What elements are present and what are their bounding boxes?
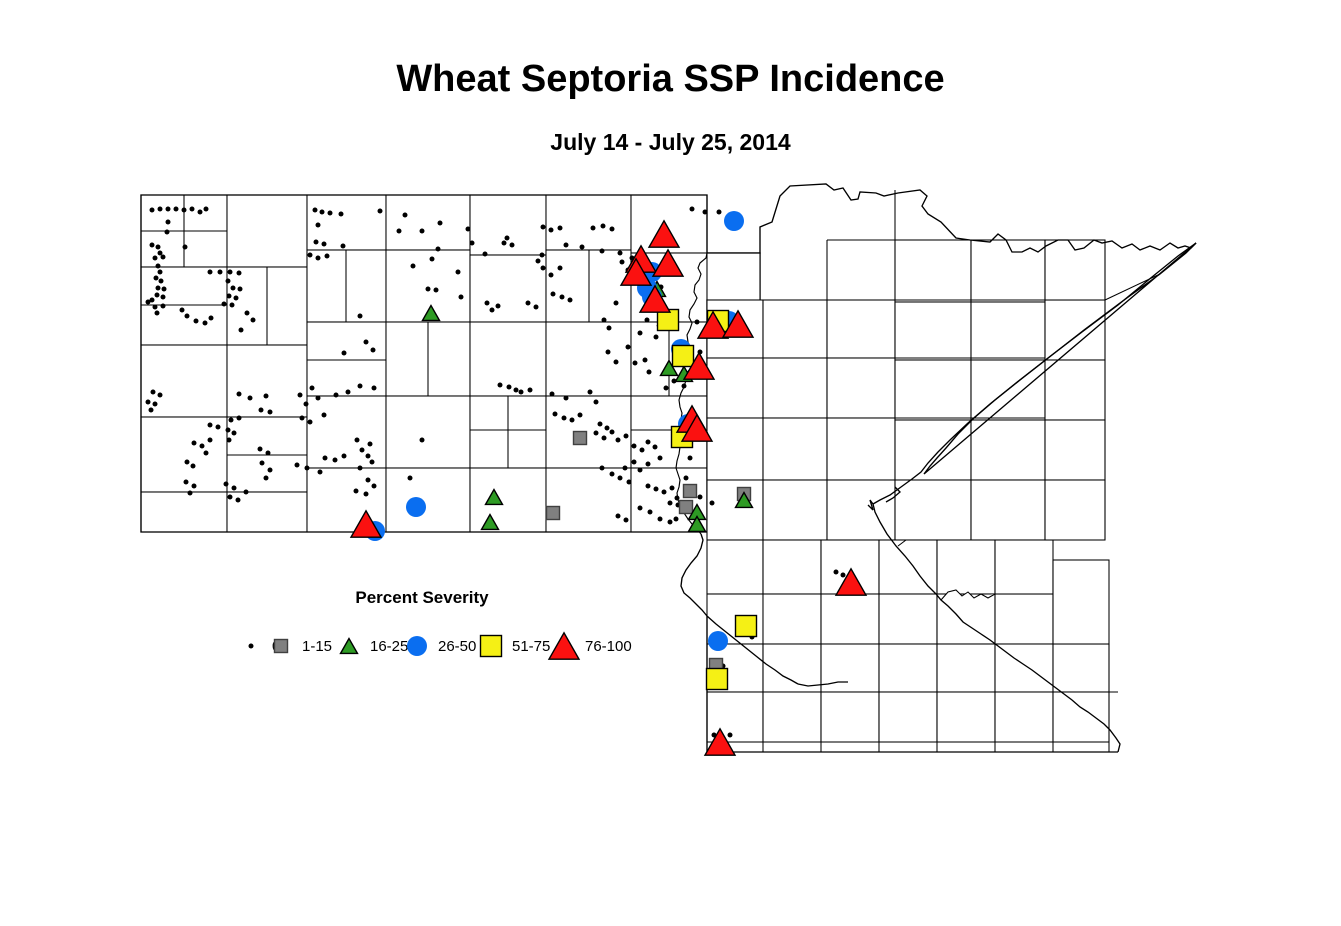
dot-marker (607, 326, 612, 331)
dot-marker (470, 241, 475, 246)
dot-marker (323, 456, 328, 461)
dot-marker (204, 451, 209, 456)
dot-marker (372, 386, 377, 391)
dot-marker (632, 460, 637, 465)
dot-marker (185, 460, 190, 465)
dot-marker (155, 311, 160, 316)
gray-square-marker (264, 629, 298, 663)
dot-marker (602, 318, 607, 323)
dot-marker (218, 270, 223, 275)
dot-marker (372, 484, 377, 489)
dot-marker (364, 492, 369, 497)
blue-circle-marker (400, 629, 434, 663)
dot-marker (459, 295, 464, 300)
dot-marker (430, 257, 435, 262)
dot-marker (208, 423, 213, 428)
dot-marker (339, 212, 344, 217)
dot-marker (600, 249, 605, 254)
dot-marker (505, 236, 510, 241)
dot-marker (227, 294, 232, 299)
dot-marker (570, 418, 575, 423)
yellow-square-marker (673, 346, 694, 367)
dot-marker (260, 461, 265, 466)
dot-marker (588, 390, 593, 395)
dot-marker (149, 408, 154, 413)
dot-marker (346, 390, 351, 395)
dot-marker (355, 438, 360, 443)
dot-marker (624, 518, 629, 523)
dot-marker (602, 436, 607, 441)
dot-marker (684, 476, 689, 481)
dot-marker (551, 292, 556, 297)
legend: Percent Severity 01-1516-2526-5051-7576-… (222, 588, 622, 674)
dot-marker (368, 442, 373, 447)
dot-marker (626, 345, 631, 350)
dot-marker (674, 517, 679, 522)
dot-marker (643, 358, 648, 363)
legend-item-26-50[interactable]: 26-50 (400, 630, 476, 662)
dot-marker (180, 308, 185, 313)
dot-marker (313, 208, 318, 213)
dot-marker (161, 255, 166, 260)
dot-marker (166, 207, 171, 212)
dot-marker (183, 245, 188, 250)
dot-marker (536, 259, 541, 264)
dot-marker (161, 304, 166, 309)
dot-marker (510, 243, 515, 248)
map-canvas (0, 0, 1341, 926)
dot-marker (153, 256, 158, 261)
dot-marker (578, 413, 583, 418)
dot-marker (397, 229, 402, 234)
dot-marker (594, 400, 599, 405)
red-triangle-marker (549, 633, 579, 659)
dot-marker (426, 287, 431, 292)
dot-marker (624, 434, 629, 439)
dot-marker (420, 438, 425, 443)
dot-marker (558, 226, 563, 231)
dot-marker (305, 466, 310, 471)
dot-marker (232, 486, 237, 491)
dot-marker (411, 264, 416, 269)
green-triangle-marker (332, 629, 366, 663)
dot-marker (541, 225, 546, 230)
dot-marker (316, 256, 321, 261)
dot-marker (308, 420, 313, 425)
dot-marker (146, 300, 151, 305)
blue-circle-marker (724, 211, 744, 231)
dot-marker (342, 351, 347, 356)
dot-marker (230, 303, 235, 308)
dot-marker (633, 361, 638, 366)
dot-marker (174, 207, 179, 212)
gray-square-marker (547, 507, 560, 520)
dot-marker (553, 412, 558, 417)
dot-marker (295, 463, 300, 468)
dot-marker (550, 392, 555, 397)
dot-marker (594, 431, 599, 436)
dot-marker (184, 480, 189, 485)
dot-marker (614, 360, 619, 365)
dot-marker (158, 207, 163, 212)
dot-marker (185, 314, 190, 319)
dot-marker (182, 208, 187, 213)
dot-marker (841, 573, 846, 578)
dot-marker (200, 444, 205, 449)
dot-marker (316, 223, 321, 228)
yellow-square-marker (474, 629, 508, 663)
green-triangle-marker (341, 639, 358, 654)
dot-marker (562, 416, 567, 421)
dot-marker (560, 295, 565, 300)
dot-marker (627, 480, 632, 485)
dot-marker (534, 305, 539, 310)
dot-marker (310, 386, 315, 391)
dot-marker (304, 402, 309, 407)
dot-marker (646, 462, 651, 467)
gray-square-marker (680, 501, 693, 514)
dot-marker (229, 418, 234, 423)
dot-marker (228, 270, 233, 275)
dot-marker (231, 286, 236, 291)
dot-marker (600, 466, 605, 471)
dot-marker (662, 490, 667, 495)
dot-marker (316, 396, 321, 401)
dot-marker (268, 468, 273, 473)
legend-title: Percent Severity (222, 588, 622, 608)
dot-marker (158, 270, 163, 275)
dot-marker (234, 296, 239, 301)
legend-item-label: 26-50 (438, 638, 476, 655)
dot-marker (541, 266, 546, 271)
dot-marker (668, 501, 673, 506)
dot-marker (408, 476, 413, 481)
dot-marker (161, 295, 166, 300)
dot-marker (190, 207, 195, 212)
dot-marker (358, 384, 363, 389)
dot-marker (259, 408, 264, 413)
dot-marker (658, 517, 663, 522)
dot-marker (728, 733, 733, 738)
dot-marker (654, 335, 659, 340)
dot-marker (564, 243, 569, 248)
legend-item-label: 76-100 (585, 638, 632, 655)
dot-marker (146, 400, 151, 405)
dot-marker (153, 305, 158, 310)
dot-marker (496, 304, 501, 309)
dot-marker (606, 350, 611, 355)
dot-marker (358, 314, 363, 319)
dot-marker (238, 287, 243, 292)
map-page: Wheat Septoria SSP Incidence July 14 - J… (0, 0, 1341, 926)
dot-marker (162, 287, 167, 292)
dot-marker (251, 318, 256, 323)
dot-marker (528, 388, 533, 393)
dot-marker (434, 288, 439, 293)
dot-marker (244, 490, 249, 495)
dot-marker (485, 301, 490, 306)
legend-item-76-100[interactable]: 76-100 (547, 630, 632, 662)
dot-marker (360, 448, 365, 453)
dot-marker (623, 466, 628, 471)
dot-marker (558, 266, 563, 271)
dot-marker (490, 308, 495, 313)
dot-marker (227, 438, 232, 443)
dot-marker (159, 279, 164, 284)
dot-marker (370, 460, 375, 465)
dot-marker (150, 208, 155, 213)
dot-marker (318, 470, 323, 475)
dot-marker (248, 396, 253, 401)
dot-marker (153, 402, 158, 407)
dot-marker (616, 514, 621, 519)
dot-marker (166, 220, 171, 225)
dot-marker (654, 487, 659, 492)
dot-marker (403, 213, 408, 218)
yellow-square-marker (481, 636, 502, 657)
dot-marker (249, 644, 254, 649)
red-triangle-marker (547, 629, 581, 663)
dot-marker (653, 445, 658, 450)
dot-marker (228, 495, 233, 500)
dot-marker (328, 211, 333, 216)
blue-circle-marker (406, 497, 426, 517)
dot-marker (540, 253, 545, 258)
dot-marker (502, 241, 507, 246)
north-dakota-counties (141, 195, 707, 532)
dot-marker (632, 444, 637, 449)
dot-marker (698, 495, 703, 500)
dot-marker (640, 448, 645, 453)
dot-marker (264, 394, 269, 399)
dot-marker (226, 428, 231, 433)
dot-marker (646, 484, 651, 489)
legend-item-51-75[interactable]: 51-75 (474, 630, 550, 662)
dot-marker (245, 311, 250, 316)
dot-marker (341, 244, 346, 249)
dot-marker (222, 302, 227, 307)
dot-marker (601, 224, 606, 229)
dot-marker (616, 438, 621, 443)
dot-marker (371, 348, 376, 353)
dot-marker (378, 209, 383, 214)
dot-marker (568, 298, 573, 303)
dot-marker (638, 506, 643, 511)
dot-marker (690, 207, 695, 212)
dot-marker (237, 392, 242, 397)
dot-marker (342, 454, 347, 459)
dot-marker (647, 370, 652, 375)
dot-marker (358, 466, 363, 471)
dot-marker (224, 482, 229, 487)
dot-marker (564, 396, 569, 401)
dot-marker (234, 629, 268, 663)
dot-marker (203, 321, 208, 326)
dot-marker (156, 245, 161, 250)
dot-marker (366, 478, 371, 483)
gray-square-marker (574, 432, 587, 445)
dot-marker (507, 385, 512, 390)
legend-item-1-15[interactable]: 1-15 (264, 630, 332, 662)
dot-marker (191, 464, 196, 469)
dot-marker (208, 270, 213, 275)
dot-marker (239, 328, 244, 333)
dot-marker (610, 430, 615, 435)
dot-marker (466, 227, 471, 232)
dot-marker (618, 476, 623, 481)
dot-marker (703, 210, 708, 215)
dot-marker (498, 383, 503, 388)
dot-marker (266, 451, 271, 456)
dot-marker (664, 386, 669, 391)
dot-marker (158, 251, 163, 256)
dot-marker (620, 260, 625, 265)
dot-marker (198, 210, 203, 215)
dot-marker (158, 393, 163, 398)
dot-marker (717, 210, 722, 215)
dot-marker (598, 422, 603, 427)
dot-marker (188, 491, 193, 496)
dot-marker (232, 431, 237, 436)
dot-marker (610, 227, 615, 232)
legend-items: 01-1516-2526-5051-7576-100 (222, 630, 622, 662)
dot-marker (322, 413, 327, 418)
dot-marker (688, 456, 693, 461)
dot-marker (264, 476, 269, 481)
dot-marker (236, 498, 241, 503)
dot-marker (670, 486, 675, 491)
dot-marker (322, 242, 327, 247)
dot-marker (549, 273, 554, 278)
dot-marker (268, 410, 273, 415)
dot-marker (364, 340, 369, 345)
dot-marker (519, 390, 524, 395)
dot-marker (638, 468, 643, 473)
dot-marker (618, 251, 623, 256)
dot-marker (614, 301, 619, 306)
blue-circle-marker (708, 631, 728, 651)
dot-marker (204, 207, 209, 212)
dot-marker (300, 416, 305, 421)
dot-marker (549, 228, 554, 233)
dot-marker (526, 301, 531, 306)
dot-marker (155, 293, 160, 298)
map-svg (0, 0, 1341, 926)
dot-marker (194, 319, 199, 324)
dot-marker (208, 438, 213, 443)
dot-marker (710, 501, 715, 506)
blue-circle-marker (407, 636, 427, 656)
dot-marker (456, 270, 461, 275)
dot-marker (580, 245, 585, 250)
dot-marker (333, 458, 338, 463)
dot-marker (420, 229, 425, 234)
dot-marker (695, 320, 700, 325)
dot-marker (438, 221, 443, 226)
dot-marker (192, 484, 197, 489)
yellow-square-marker (736, 616, 757, 637)
gray-square-marker (684, 485, 697, 498)
dot-marker (156, 286, 161, 291)
dot-marker (648, 510, 653, 515)
dot-marker (334, 393, 339, 398)
dot-marker (591, 226, 596, 231)
dot-marker (320, 210, 325, 215)
dot-marker (258, 447, 263, 452)
dot-marker (834, 570, 839, 575)
dot-marker (151, 390, 156, 395)
dot-marker (436, 247, 441, 252)
dot-marker (216, 425, 221, 430)
dot-marker (308, 253, 313, 258)
dot-marker (237, 271, 242, 276)
dot-marker (668, 520, 673, 525)
legend-item-label: 1-15 (302, 638, 332, 655)
dot-marker (675, 496, 680, 501)
dot-marker (354, 489, 359, 494)
dot-marker (150, 243, 155, 248)
legend-item-label: 51-75 (512, 638, 550, 655)
dot-marker (658, 456, 663, 461)
dot-marker (209, 316, 214, 321)
dot-marker (610, 472, 615, 477)
legend-item-16-25[interactable]: 16-25 (332, 630, 408, 662)
dot-marker (237, 416, 242, 421)
dot-marker (645, 318, 650, 323)
dot-marker (605, 426, 610, 431)
dot-marker (314, 240, 319, 245)
dot-marker (514, 388, 519, 393)
dot-marker (226, 279, 231, 284)
dot-marker (154, 276, 159, 281)
dot-marker (483, 252, 488, 257)
dot-marker (156, 264, 161, 269)
dot-marker (298, 393, 303, 398)
gray-square-marker (275, 640, 288, 653)
dot-marker (165, 230, 170, 235)
dot-marker (638, 331, 643, 336)
dot-marker (192, 441, 197, 446)
minnesota-counties (707, 240, 1109, 742)
dot-marker (646, 440, 651, 445)
dot-marker (682, 384, 687, 389)
dot-marker (325, 254, 330, 259)
yellow-square-marker (707, 669, 728, 690)
dot-marker (366, 454, 371, 459)
